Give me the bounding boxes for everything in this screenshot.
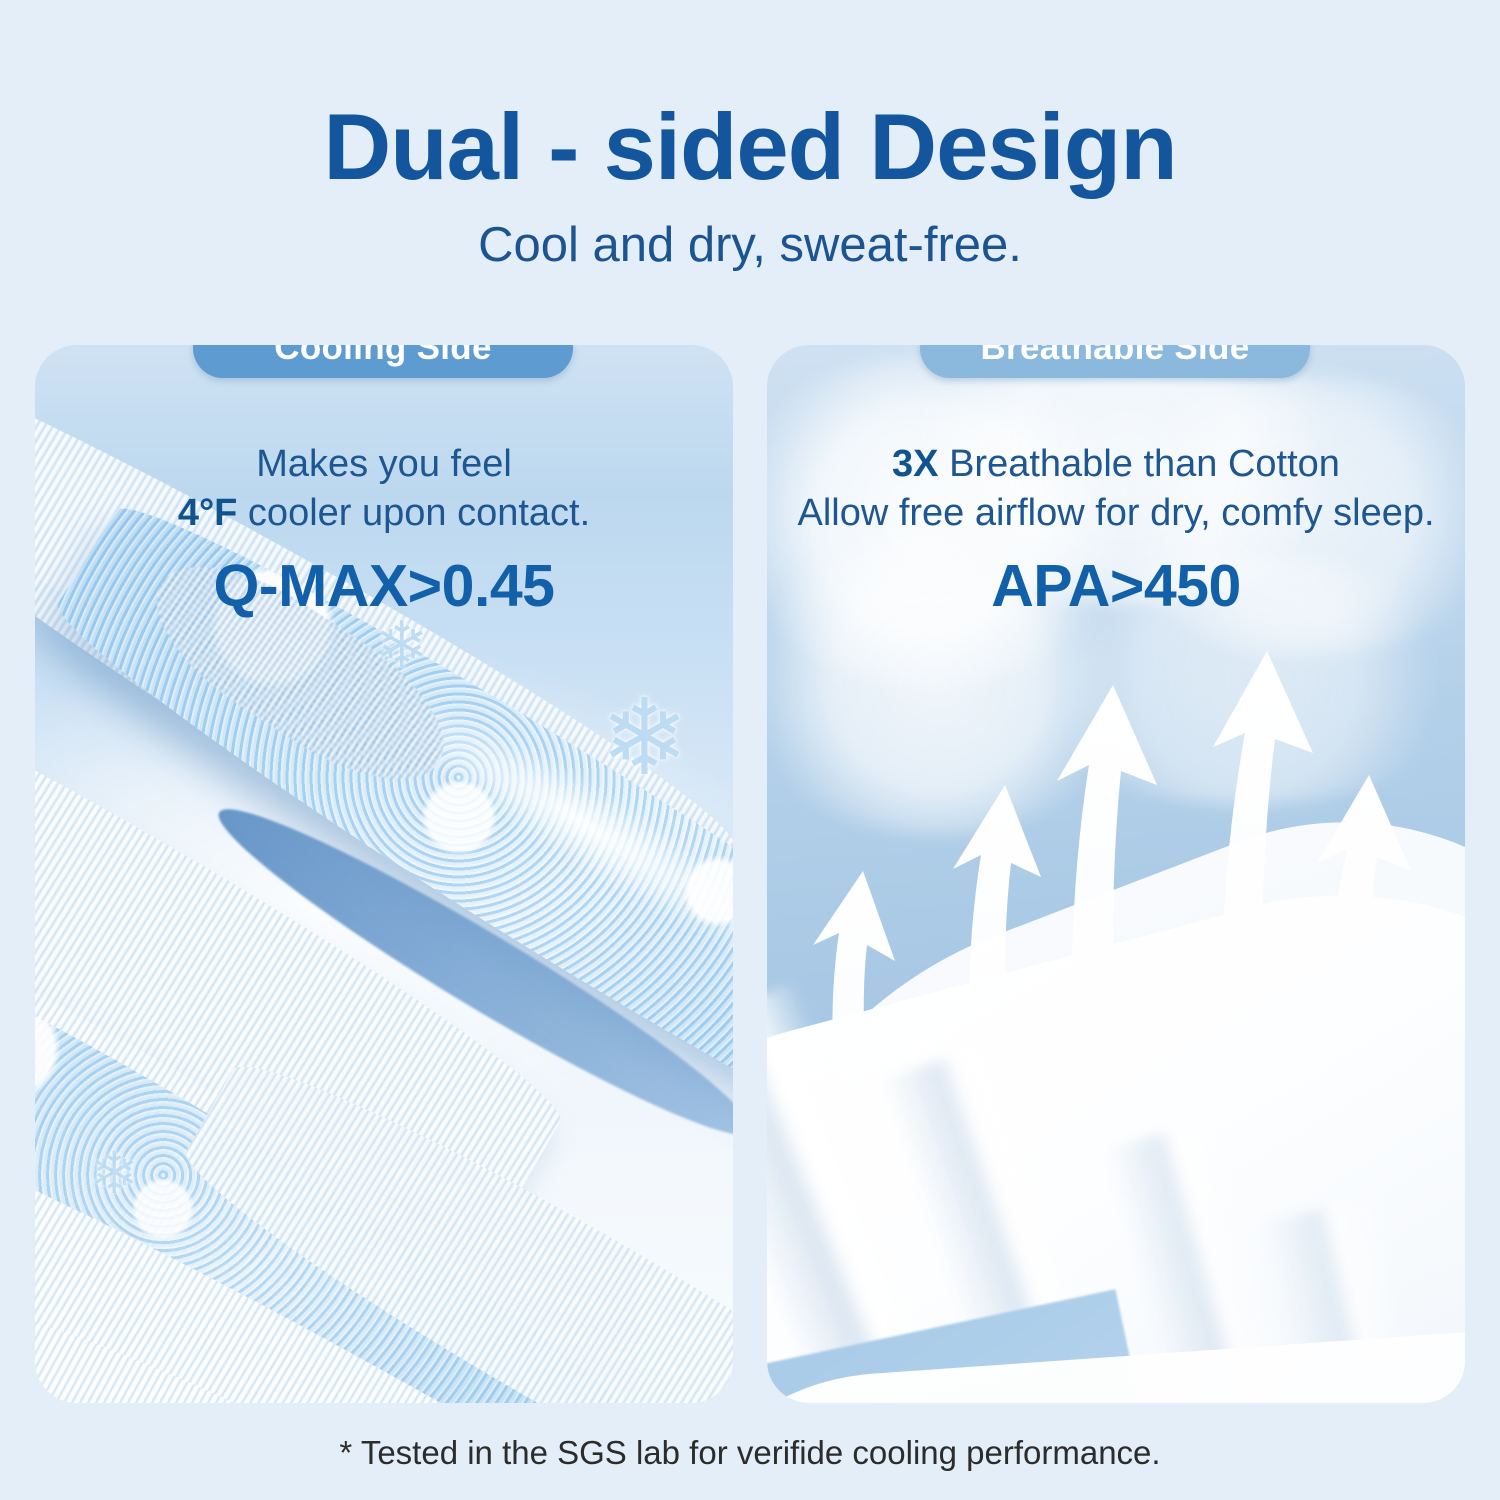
breathable-side-lead-text: 3X Breathable than Cotton Allow free air… (767, 440, 1465, 537)
cooling-side-metric: Q-MAX>0.45 (35, 552, 733, 620)
cooling-side-badge[interactable]: Cooling Side (193, 345, 573, 378)
breathable-side-badge[interactable]: Breathable Side (920, 345, 1310, 378)
breathable-lead-line-2: Allow free airflow for dry, comfy sleep. (767, 489, 1465, 538)
snowflake-icon: ❄ (90, 1145, 139, 1203)
breathable-side-panel: Breathable Side 3X Breathable than Cotto… (767, 345, 1465, 1403)
snowflake-icon: ❄ (600, 685, 689, 791)
infographic-root: Dual - sided Design Cool and dry, sweat-… (0, 0, 1500, 1500)
cooling-lead-line-1: Makes you feel (35, 440, 733, 489)
footnote-disclaimer: * Tested in the SGS lab for verifide coo… (0, 1434, 1500, 1472)
page-subtitle: Cool and dry, sweat-free. (0, 216, 1500, 275)
cooling-side-lead-text: Makes you feel 4°F cooler upon contact. (35, 440, 733, 537)
breathability-multiplier: 3X (892, 443, 938, 485)
breathable-lead-line-1-rest: Breathable than Cotton (939, 443, 1340, 485)
cooling-lead-line-2: 4°F cooler upon contact. (35, 489, 733, 538)
breathable-side-metric: APA>450 (767, 552, 1465, 620)
cooling-temperature-value: 4°F (178, 492, 238, 534)
breathable-lead-line-1: 3X Breathable than Cotton (767, 440, 1465, 489)
snowflake-icon: ❄ (375, 613, 429, 677)
cooling-lead-line-2-rest: cooler upon contact. (237, 492, 590, 534)
page-title: Dual - sided Design (0, 96, 1500, 198)
cooling-side-panel: ❄ ❄ ❄ Cooling Side Makes you feel 4°F co… (35, 345, 733, 1403)
